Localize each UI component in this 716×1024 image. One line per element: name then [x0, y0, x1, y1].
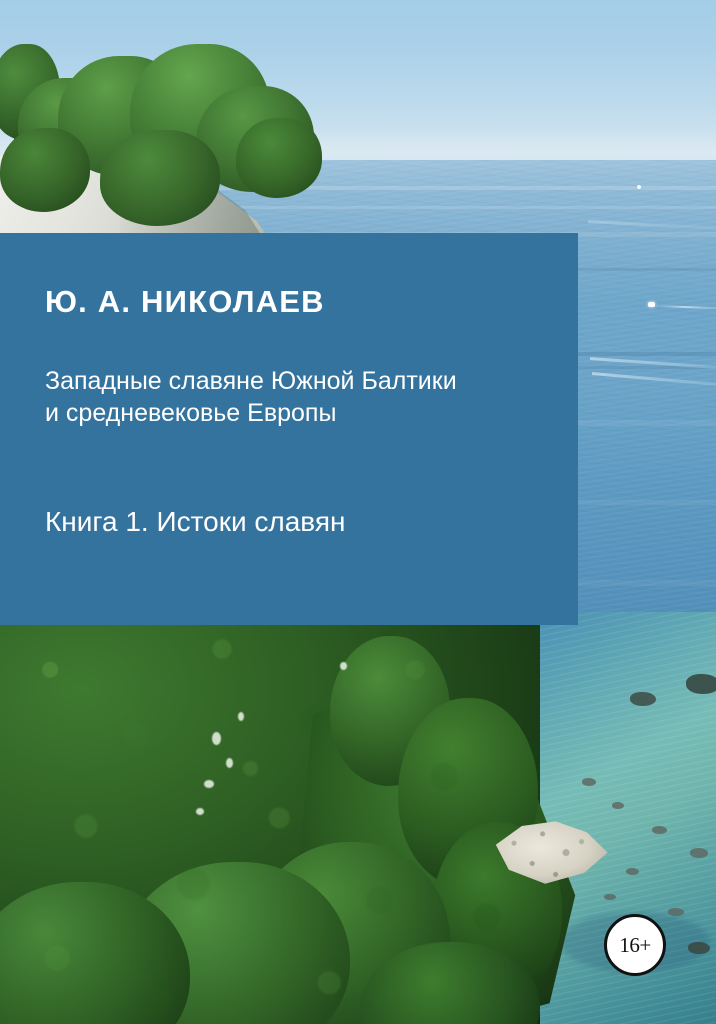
tree-canopy	[100, 130, 220, 226]
book-volume-subtitle: Книга 1. Истоки славян	[45, 505, 538, 539]
book-title: Западные славяне Южной Балтики и среднев…	[45, 365, 538, 429]
rock	[668, 908, 684, 916]
sun-fleck	[226, 758, 233, 768]
title-line-2: и средневековье Европы	[45, 397, 538, 429]
tree-canopy	[0, 128, 90, 212]
pebble-detail	[488, 812, 618, 890]
book-cover: Ю. А. НИКОЛАЕВ Западные славяне Южной Ба…	[0, 0, 716, 1024]
rock	[690, 848, 708, 858]
tree-canopy	[236, 118, 322, 198]
sun-fleck	[340, 662, 347, 670]
age-rating-badge: 16+	[604, 914, 666, 976]
boat	[648, 302, 655, 307]
rock	[612, 802, 624, 809]
sun-fleck	[238, 712, 244, 721]
rock	[582, 778, 596, 786]
rock	[604, 894, 616, 900]
rock	[630, 692, 656, 706]
rock	[652, 826, 667, 834]
rock	[686, 674, 716, 694]
distant-boat	[637, 185, 641, 189]
author-name: Ю. А. НИКОЛАЕВ	[45, 285, 538, 319]
title-line-1: Западные славяне Южной Балтики	[45, 365, 538, 397]
sun-fleck	[196, 808, 204, 815]
rock	[626, 868, 639, 875]
sun-fleck	[204, 780, 214, 788]
age-rating-label: 16+	[619, 933, 650, 958]
rock	[688, 942, 710, 954]
title-panel: Ю. А. НИКОЛАЕВ Западные славяне Южной Ба…	[0, 233, 578, 625]
sun-fleck	[212, 732, 221, 745]
